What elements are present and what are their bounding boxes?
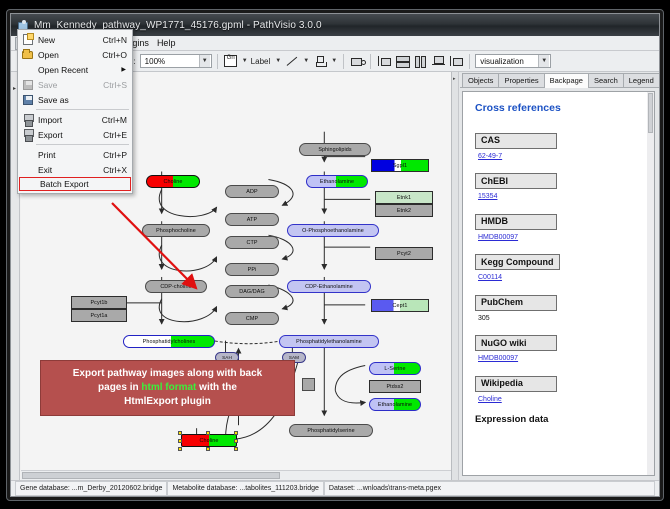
menu-help[interactable]: Help <box>153 37 180 50</box>
pathway-gene-sgpl1[interactable]: Sgpl1 <box>371 159 429 172</box>
toolbar-separator-4 <box>469 54 470 69</box>
pathway-node-l-serine[interactable]: L-Serine <box>369 362 421 375</box>
tab-backpage[interactable]: Backpage <box>544 73 589 89</box>
callout-highlight: html format <box>141 382 196 393</box>
application-window: Mm_Kennedy_pathway_WP1771_45176.gpml - P… <box>6 9 664 501</box>
file-menu-label: Print <box>38 150 103 160</box>
tab-legend[interactable]: Legend <box>623 73 660 87</box>
file-menu-accelerator: Ctrl+M <box>102 115 132 125</box>
tab-objects[interactable]: Objects <box>462 73 499 87</box>
callout-line-1: Export pathway images along with back <box>73 367 263 381</box>
save-icon <box>20 78 35 91</box>
gene-product-icon <box>224 55 237 67</box>
pathway-node-sphingolipids[interactable]: Sphingolipids <box>299 143 371 156</box>
file-menu-accelerator: Ctrl+X <box>103 165 132 175</box>
callout-anchor-box <box>302 378 315 391</box>
xref-pubchem: PubChem 305 <box>475 292 654 322</box>
pathway-node-o-phosphoethanolamine[interactable]: O-Phosphoethanolamine <box>287 224 379 237</box>
pathway-node-adp[interactable]: ADP <box>225 185 279 198</box>
selection-handle-w[interactable] <box>178 439 182 443</box>
file-menu-item-exit[interactable]: Exit Ctrl+X <box>18 162 132 177</box>
visualization-value: visualization <box>480 57 524 66</box>
file-menu-item-import[interactable]: Import Ctrl+M <box>18 112 132 127</box>
pathway-node-phosphatidylcholines[interactable]: Phosphatidylcholines <box>123 335 215 348</box>
xref-database-label: Kegg Compound <box>475 254 560 270</box>
file-menu-accelerator: Ctrl+E <box>103 130 132 140</box>
file-menu-label: Exit <box>38 165 103 175</box>
pathway-node-cdp-choline[interactable]: CDP-choline <box>145 280 207 293</box>
pathway-gene-etnk2[interactable]: Etnk2 <box>375 204 433 217</box>
export-icon <box>20 128 35 141</box>
xref-value-link[interactable]: Choline <box>478 396 654 403</box>
xref-wikipedia: Wikipedia Choline <box>475 373 654 403</box>
window-inner: Mm_Kennedy_pathway_WP1771_45176.gpml - P… <box>10 13 660 497</box>
visualization-combo[interactable]: visualization ▼ <box>475 54 551 68</box>
xref-value-link[interactable]: 15354 <box>478 193 654 200</box>
selected-node-group[interactable]: Choline <box>175 429 243 453</box>
sidebar-collapse-gutter[interactable] <box>452 72 459 480</box>
align-leftedge-button[interactable] <box>448 53 464 69</box>
xref-database-label: NuGO wiki <box>475 335 557 351</box>
file-menu-item-export[interactable]: Export Ctrl+E <box>18 127 132 142</box>
toolbar-separator-2 <box>343 54 344 69</box>
pathway-node-atp[interactable]: ATP <box>225 213 279 226</box>
callout-line-2-pre: pages in <box>98 382 141 393</box>
pathway-node-ptdss2[interactable]: Ptdss2 <box>369 380 421 393</box>
zoom-value: 100% <box>145 57 165 66</box>
chevron-down-icon: ▼ <box>199 55 210 67</box>
selection-handle-se[interactable] <box>234 447 238 451</box>
pathway-gene-pcyt2[interactable]: Pcyt2 <box>375 247 433 260</box>
pathway-gene-etnk1[interactable]: Etnk1 <box>375 191 433 204</box>
xref-cas: CAS 62-49-7 <box>475 130 654 160</box>
pathway-node-ethanolamine-2[interactable]: Ethanolamine <box>369 398 421 411</box>
pathway-node-cmp[interactable]: CMP <box>225 312 279 325</box>
line-tool-button[interactable] <box>284 53 300 69</box>
pathway-node-dag[interactable]: DAG/DAG <box>225 285 279 298</box>
status-gene-database: Gene database: ...m_Derby_20120602.bridg… <box>15 481 167 496</box>
align-center-button[interactable] <box>349 53 365 69</box>
file-menu-separator-1 <box>36 109 129 110</box>
line-dropdown-icon[interactable]: ▼ <box>302 58 310 64</box>
file-menu-item-new[interactable]: New Ctrl+N <box>18 32 132 47</box>
file-menu-label: Save <box>38 80 103 90</box>
file-menu-item-open[interactable]: Open Ctrl+O <box>18 47 132 62</box>
pathway-node-phosphocholine[interactable]: Phosphocholine <box>142 224 210 237</box>
file-menu-accelerator: Ctrl+O <box>102 50 132 60</box>
pathway-node-phosphatidylethanolamine[interactable]: Phosphatidylethanolamine <box>279 335 379 348</box>
xref-database-label: Wikipedia <box>475 376 557 392</box>
align-leftedge-icon <box>450 55 463 67</box>
save-as-icon <box>20 93 35 106</box>
file-menu-accelerator: Ctrl+S <box>103 80 132 90</box>
callout-line-3: HtmlExport plugin <box>124 395 211 409</box>
screenshot-root: Mm_Kennedy_pathway_WP1771_45176.gpml - P… <box>0 0 670 509</box>
gene-product-dropdown-icon[interactable]: ▼ <box>241 58 249 64</box>
selection-handle-e[interactable] <box>234 439 238 443</box>
file-menu-accelerator: Ctrl+N <box>103 35 132 45</box>
pathway-gene-pcyt1a[interactable]: Pcyt1a <box>71 309 127 322</box>
callout-line-2: pages in html format with the <box>98 381 237 395</box>
pathway-node-phosphatidylserine[interactable]: Phosphatidylserine <box>289 424 373 437</box>
blank-icon <box>20 148 35 161</box>
import-icon <box>20 113 35 126</box>
xref-hmdb: HMDB HMDB00097 <box>475 211 654 241</box>
anchor-icon <box>314 55 327 67</box>
xref-value-link[interactable]: HMDB00097 <box>478 234 654 241</box>
backpage-vscroll-thumb[interactable] <box>648 93 653 133</box>
status-metabolite-database: Metabolite database: ...tabolites_111203… <box>167 481 323 496</box>
backpage-vertical-scrollbar[interactable] <box>647 92 654 475</box>
pathway-gene-cept1[interactable]: Cept1 <box>371 299 429 312</box>
annotation-callout: Export pathway images along with back pa… <box>40 360 295 416</box>
anchor-tool-button[interactable] <box>312 53 328 69</box>
anchor-dropdown-icon[interactable]: ▼ <box>330 58 338 64</box>
expression-data-heading: Expression data <box>475 414 654 425</box>
xref-database-label: ChEBI <box>475 173 557 189</box>
selection-handle-n[interactable] <box>206 431 210 435</box>
pathway-gene-pcyt1b[interactable]: Pcyt1b <box>71 296 127 309</box>
columns-icon <box>414 55 427 67</box>
pathway-node-ppi[interactable]: PPi <box>225 263 279 276</box>
new-document-icon <box>20 33 35 46</box>
xref-nugo-wiki: NuGO wiki HMDB00097 <box>475 333 654 363</box>
xref-database-label: HMDB <box>475 214 557 230</box>
stack-icon <box>396 55 409 67</box>
xref-database-label: CAS <box>475 133 557 149</box>
align-left-icon <box>378 55 391 67</box>
submenu-arrow-icon: ▶ <box>121 66 132 73</box>
xref-chebi: ChEBI 15354 <box>475 171 654 201</box>
blank-icon <box>20 163 35 176</box>
file-menu-item-print[interactable]: Print Ctrl+P <box>18 147 132 162</box>
selection-handle-sw[interactable] <box>178 447 182 451</box>
pathway-node-choline[interactable]: Choline <box>146 175 200 188</box>
xref-database-label: PubChem <box>475 295 557 311</box>
align-bottom-icon <box>432 55 445 67</box>
xref-value-link[interactable]: 62-49-7 <box>478 153 654 160</box>
zoom-combo[interactable]: 100% ▼ <box>140 54 212 68</box>
file-menu-item-save: Save Ctrl+S <box>18 77 132 92</box>
file-menu-dropdown[interactable]: New Ctrl+N Open Ctrl+O Open Recent ▶ Sav… <box>17 29 133 194</box>
file-menu-label: Import <box>38 115 102 125</box>
callout-line-2-post: with the <box>196 382 237 393</box>
tab-properties[interactable]: Properties <box>498 73 544 87</box>
toolbar-separator-1 <box>217 54 218 69</box>
file-menu-item-save-as[interactable]: Save as <box>18 92 132 107</box>
selection-handle-s[interactable] <box>206 447 210 451</box>
pathway-node-cdp-ethanolamine[interactable]: CDP-Ethanolamine <box>287 280 371 293</box>
gene-product-tool-button[interactable] <box>223 53 239 69</box>
pathway-node-ctp[interactable]: CTP <box>225 236 279 249</box>
side-panel: Objects Properties Backpage Search Legen… <box>452 72 659 480</box>
file-menu-label: New <box>38 35 103 45</box>
pathway-node-choline-selected[interactable]: Choline <box>181 434 237 447</box>
file-menu-item-open-recent[interactable]: Open Recent ▶ <box>18 62 132 77</box>
align-left-button[interactable] <box>376 53 392 69</box>
stack-button[interactable] <box>394 53 410 69</box>
label-dropdown-icon[interactable]: ▼ <box>274 58 282 64</box>
file-menu-separator-2 <box>36 144 129 145</box>
pathway-node-ethanolamine[interactable]: Ethanolamine <box>306 175 368 188</box>
status-bar: Gene database: ...m_Derby_20120602.bridg… <box>11 480 659 496</box>
line-icon <box>286 55 299 67</box>
file-menu-label: Save as <box>38 95 127 105</box>
status-dataset: Dataset: ...wnloads\trans-meta.pgex <box>324 481 655 496</box>
xref-value-link[interactable]: C00114 <box>478 274 654 281</box>
xref-value-link[interactable]: HMDB00097 <box>478 355 654 362</box>
tab-search[interactable]: Search <box>588 73 624 87</box>
xref-kegg-compound: Kegg Compound C00114 <box>475 252 654 282</box>
selection-handle-nw[interactable] <box>178 431 182 435</box>
distribute-columns-button[interactable] <box>412 53 428 69</box>
selection-handle-ne[interactable] <box>234 431 238 435</box>
xref-value-text: 305 <box>478 315 654 322</box>
file-menu-item-batch-export[interactable]: Batch Export <box>19 177 131 191</box>
chevron-down-icon-2: ▼ <box>538 55 549 67</box>
file-menu-label: Open <box>38 50 102 60</box>
file-menu-label: Batch Export <box>40 179 130 189</box>
file-menu-label: Open Recent <box>38 65 121 75</box>
backpage-title: Cross references <box>475 102 654 114</box>
backpage-panel: Cross references CAS 62-49-7 ChEBI 15354… <box>462 91 655 476</box>
canvas-hscroll-thumb[interactable] <box>22 472 280 479</box>
file-menu-accelerator: Ctrl+P <box>103 150 132 160</box>
expand-arrow-icon[interactable]: ▸ <box>13 85 16 92</box>
align-center-icon <box>351 55 364 67</box>
open-folder-icon <box>20 48 35 61</box>
blank-icon <box>22 178 37 191</box>
sidebar-tabstrip: Objects Properties Backpage Search Legen… <box>460 72 659 88</box>
blank-icon <box>20 63 35 76</box>
align-bottom-button[interactable] <box>430 53 446 69</box>
label-tool-label[interactable]: Label <box>251 57 271 66</box>
canvas-horizontal-scrollbar[interactable] <box>21 470 451 480</box>
toolbar-separator-3 <box>370 54 371 69</box>
file-menu-label: Export <box>38 130 103 140</box>
